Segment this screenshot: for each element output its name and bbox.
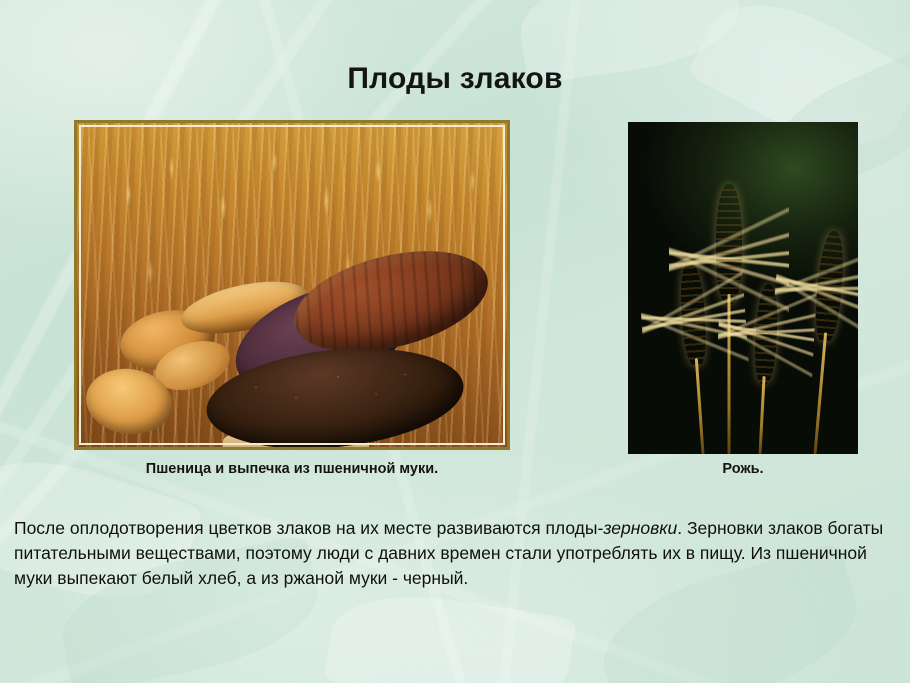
body-text-part-1: После оплодотворения цветков злаков на и… bbox=[14, 518, 603, 538]
bread-basket-group bbox=[77, 123, 507, 447]
figure-caption-wheat: Пшеница и выпечка из пшеничной муки. bbox=[74, 461, 510, 477]
body-term-zernovki: зерновки bbox=[603, 518, 677, 538]
body-paragraph: После оплодотворения цветков злаков на и… bbox=[14, 516, 900, 591]
figure-wheat-and-baked-goods bbox=[74, 120, 510, 450]
slide-title: Плоды злаков bbox=[0, 62, 910, 96]
figure-caption-rye: Рожь. bbox=[628, 461, 858, 477]
presentation-slide: Плоды злаков Пшеница и выпечка из пшенич… bbox=[0, 0, 910, 683]
figure-rye-ears bbox=[628, 122, 858, 454]
rye-ear-4 bbox=[778, 192, 858, 454]
